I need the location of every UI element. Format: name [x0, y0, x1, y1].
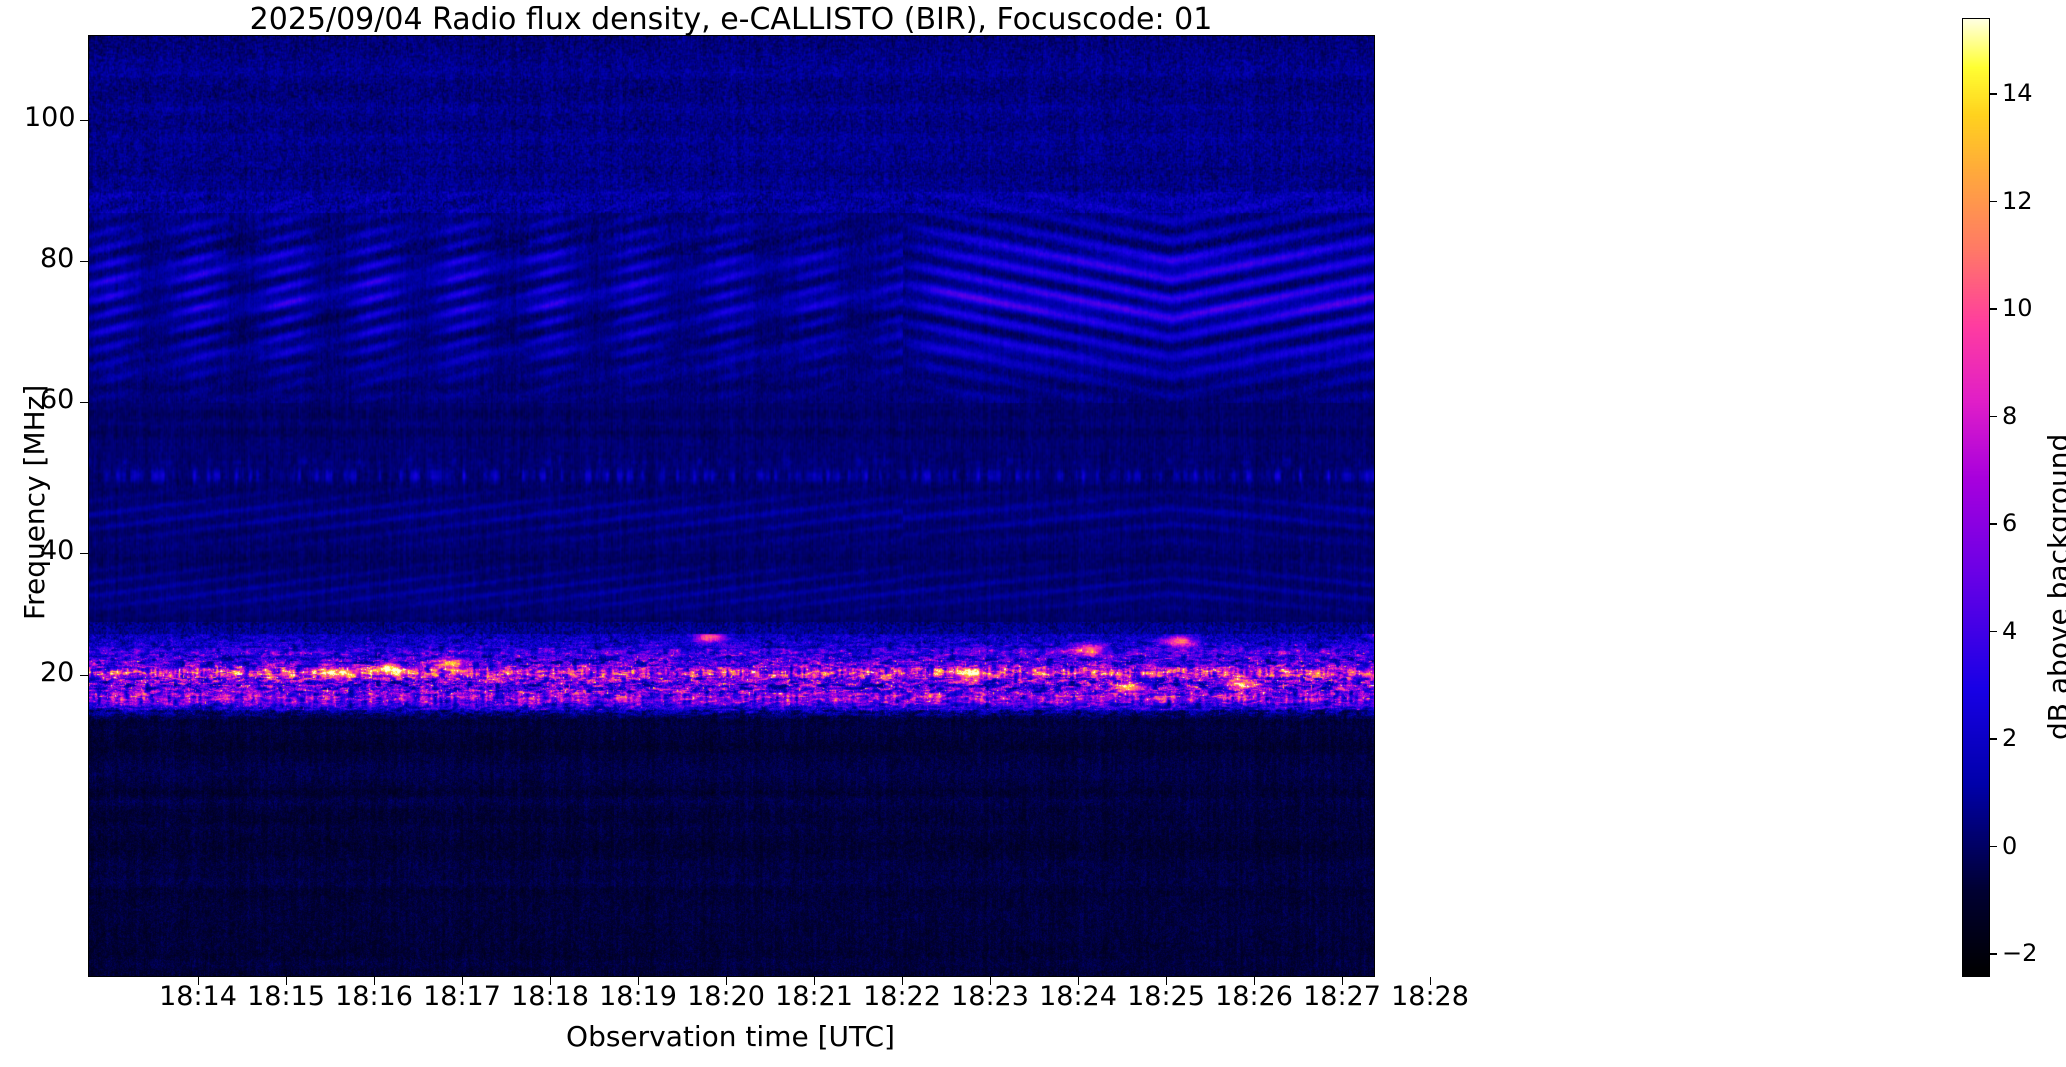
x-tick-label: 18:15: [247, 981, 325, 1012]
colorbar-tick-mark: [1990, 523, 1997, 524]
y-tick-mark: [80, 261, 88, 262]
colorbar-tick-mark: [1990, 308, 1997, 309]
colorbar-label: dB above background: [2042, 434, 2066, 740]
colorbar-tick-label: 8: [2002, 402, 2017, 430]
colorbar-tick-label: 12: [2002, 187, 2033, 215]
x-tick-label: 18:23: [951, 981, 1029, 1012]
x-tick-label: 18:16: [335, 981, 413, 1012]
colorbar-tick-mark: [1990, 416, 1997, 417]
spectrogram-axes[interactable]: [88, 35, 1375, 977]
x-tick-label: 18:17: [423, 981, 501, 1012]
x-axis-label: Observation time [UTC]: [88, 1020, 1373, 1053]
y-tick-mark: [80, 553, 88, 554]
y-tick-label: 40: [40, 535, 74, 566]
colorbar-tick-label: 14: [2002, 79, 2033, 107]
colorbar-tick-mark: [1990, 846, 1997, 847]
colorbar-tick-label: −2: [2002, 939, 2037, 967]
spectrogram-image[interactable]: [89, 36, 1374, 976]
x-tick-label: 18:14: [159, 981, 237, 1012]
colorbar-axes[interactable]: [1962, 18, 1990, 977]
x-tick-label: 18:21: [775, 981, 853, 1012]
x-tick-label: 18:24: [1039, 981, 1117, 1012]
y-tick-label: 20: [40, 657, 74, 688]
colorbar-tick-label: 4: [2002, 617, 2017, 645]
x-tick-label: 18:25: [1127, 981, 1205, 1012]
x-tick-label: 18:18: [511, 981, 589, 1012]
colorbar-gradient: [1963, 19, 1989, 976]
y-tick-mark: [80, 675, 88, 676]
colorbar-tick-label: 2: [2002, 724, 2017, 752]
colorbar-tick-label: 6: [2002, 509, 2017, 537]
colorbar-tick-mark: [1990, 631, 1997, 632]
x-tick-label: 18:28: [1391, 981, 1469, 1012]
colorbar-tick-label: 0: [2002, 832, 2017, 860]
y-tick-mark: [80, 120, 88, 121]
colorbar-tick-mark: [1990, 738, 1997, 739]
x-tick-label: 18:22: [863, 981, 941, 1012]
x-tick-label: 18:20: [687, 981, 765, 1012]
colorbar-tick-mark: [1990, 953, 1997, 954]
figure-canvas: 2025/09/04 Radio flux density, e-CALLIST…: [0, 0, 2066, 1067]
y-tick-label: 80: [40, 243, 74, 274]
y-axis-label: Frequency [MHz]: [18, 385, 51, 620]
y-tick-mark: [80, 402, 88, 403]
x-tick-label: 18:19: [599, 981, 677, 1012]
x-tick-label: 18:26: [1215, 981, 1293, 1012]
colorbar-tick-mark: [1990, 93, 1997, 94]
y-tick-label: 60: [40, 384, 74, 415]
x-tick-label: 18:27: [1303, 981, 1381, 1012]
colorbar-tick-label: 10: [2002, 294, 2033, 322]
y-tick-label: 100: [24, 102, 76, 133]
figure-title: 2025/09/04 Radio flux density, e-CALLIST…: [0, 2, 1462, 37]
colorbar-tick-mark: [1990, 201, 1997, 202]
